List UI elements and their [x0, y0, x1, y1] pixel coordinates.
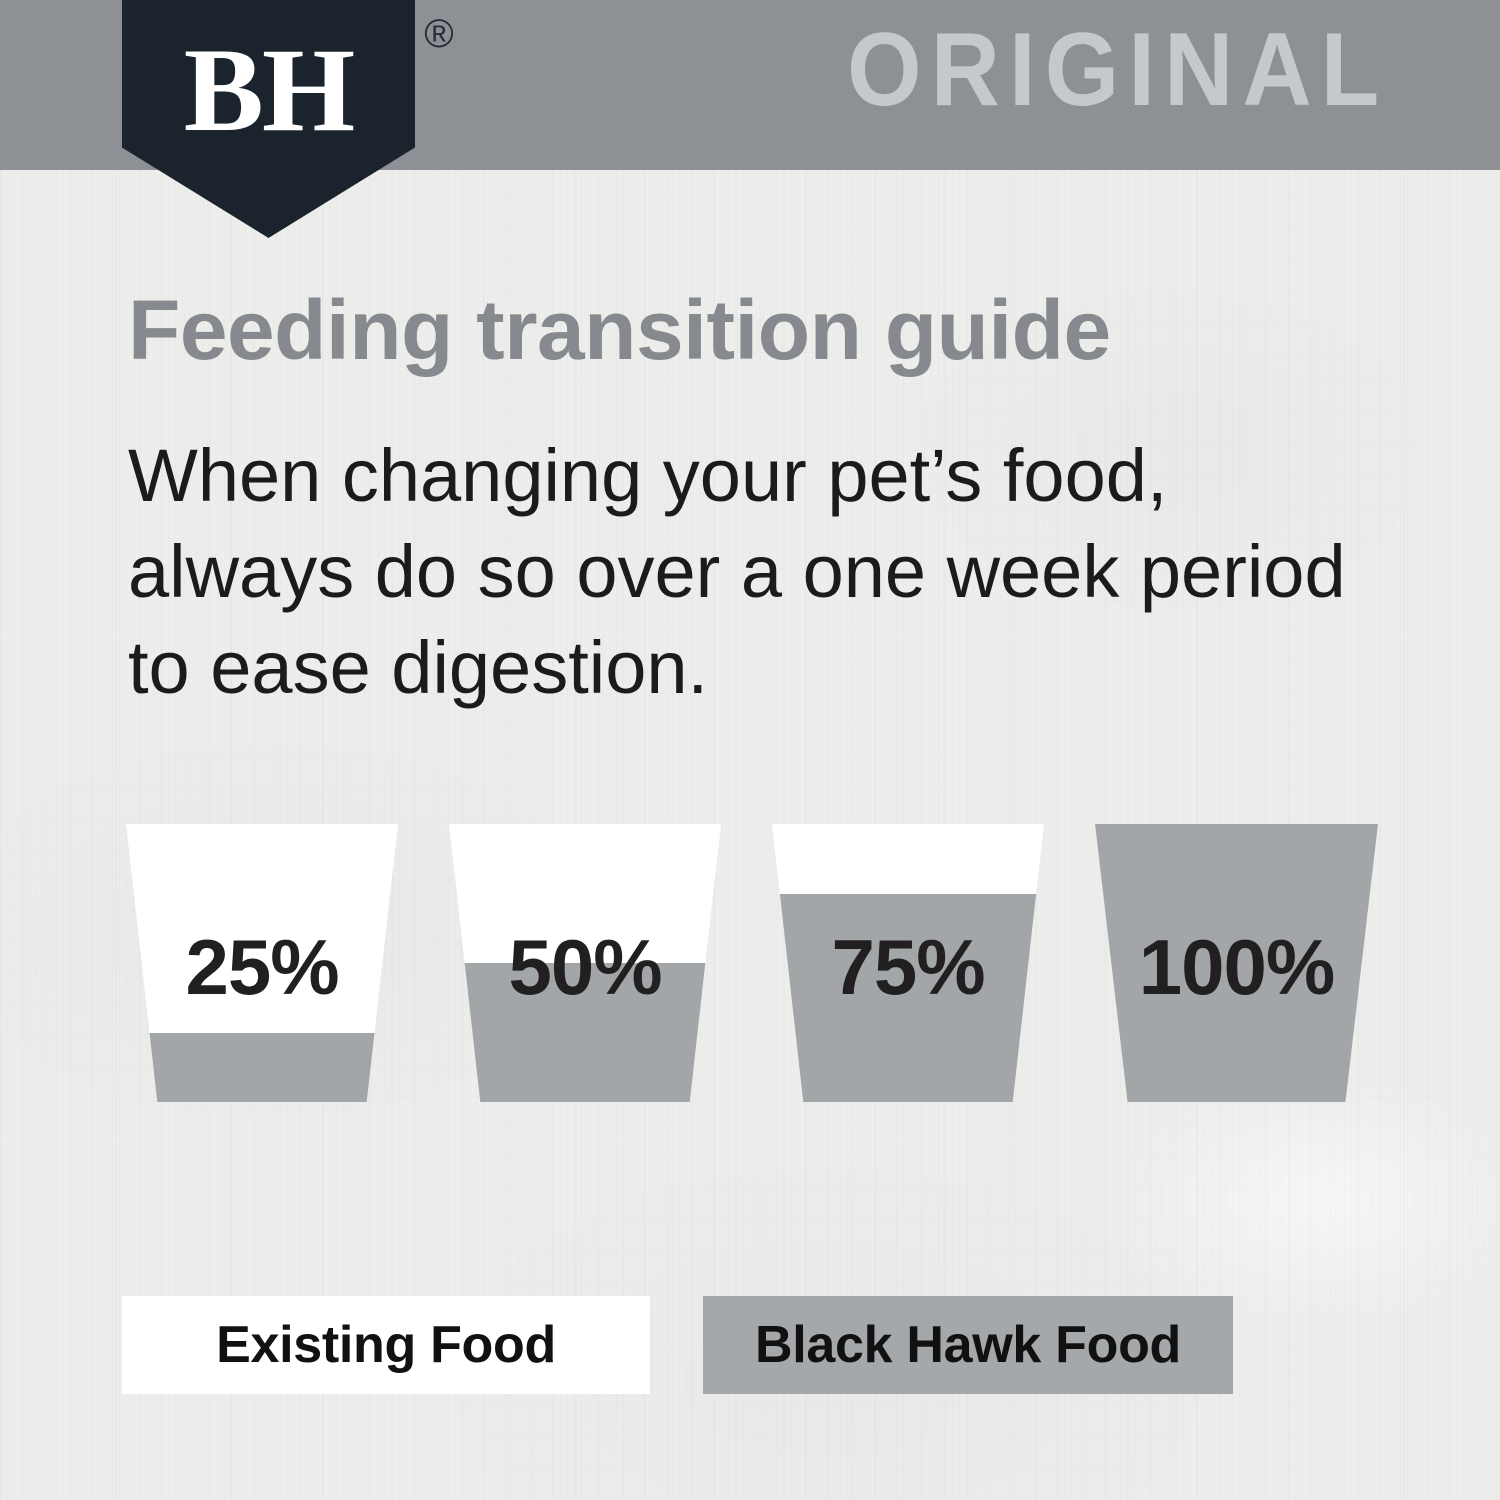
cup-percent-label: 25%	[126, 928, 398, 1006]
legend-label-existing-food: Existing Food	[216, 1319, 556, 1371]
brand-monogram-text: BH	[122, 30, 415, 150]
page-body-text: When changing your pet’s food, always do…	[128, 428, 1358, 716]
transition-cup-day-7: 100% Day 7	[1095, 824, 1378, 1102]
feeding-transition-infographic: ORIGINAL BH ® Feeding transition guide W…	[0, 0, 1500, 1500]
background-texture	[0, 0, 1500, 1500]
cup-percent-label: 75%	[772, 928, 1044, 1006]
brand-shield-logo: BH	[122, 0, 415, 238]
registered-trademark-icon: ®	[416, 12, 462, 58]
legend-label-black-hawk-food: Black Hawk Food	[755, 1319, 1181, 1371]
page-title: Feeding transition guide	[128, 288, 1111, 372]
transition-cups-row: 25% Day 1-2 50% Day 3-4 75% Day 5-6 100%…	[0, 0, 1500, 1500]
cup-percent-label: 100%	[1095, 928, 1378, 1006]
transition-cup-day-5-6: 75% Day 5-6	[772, 824, 1044, 1102]
legend-item-black-hawk-food: Black Hawk Food	[703, 1296, 1233, 1394]
transition-cup-day-1-2: 25% Day 1-2	[126, 824, 398, 1102]
cup-percent-label: 50%	[449, 928, 721, 1006]
legend-item-existing-food: Existing Food	[122, 1296, 650, 1394]
cup-fill-black-hawk	[126, 1033, 398, 1103]
transition-cup-day-3-4: 50% Day 3-4	[449, 824, 721, 1102]
brand-wordmark: ORIGINAL	[847, 18, 1388, 122]
